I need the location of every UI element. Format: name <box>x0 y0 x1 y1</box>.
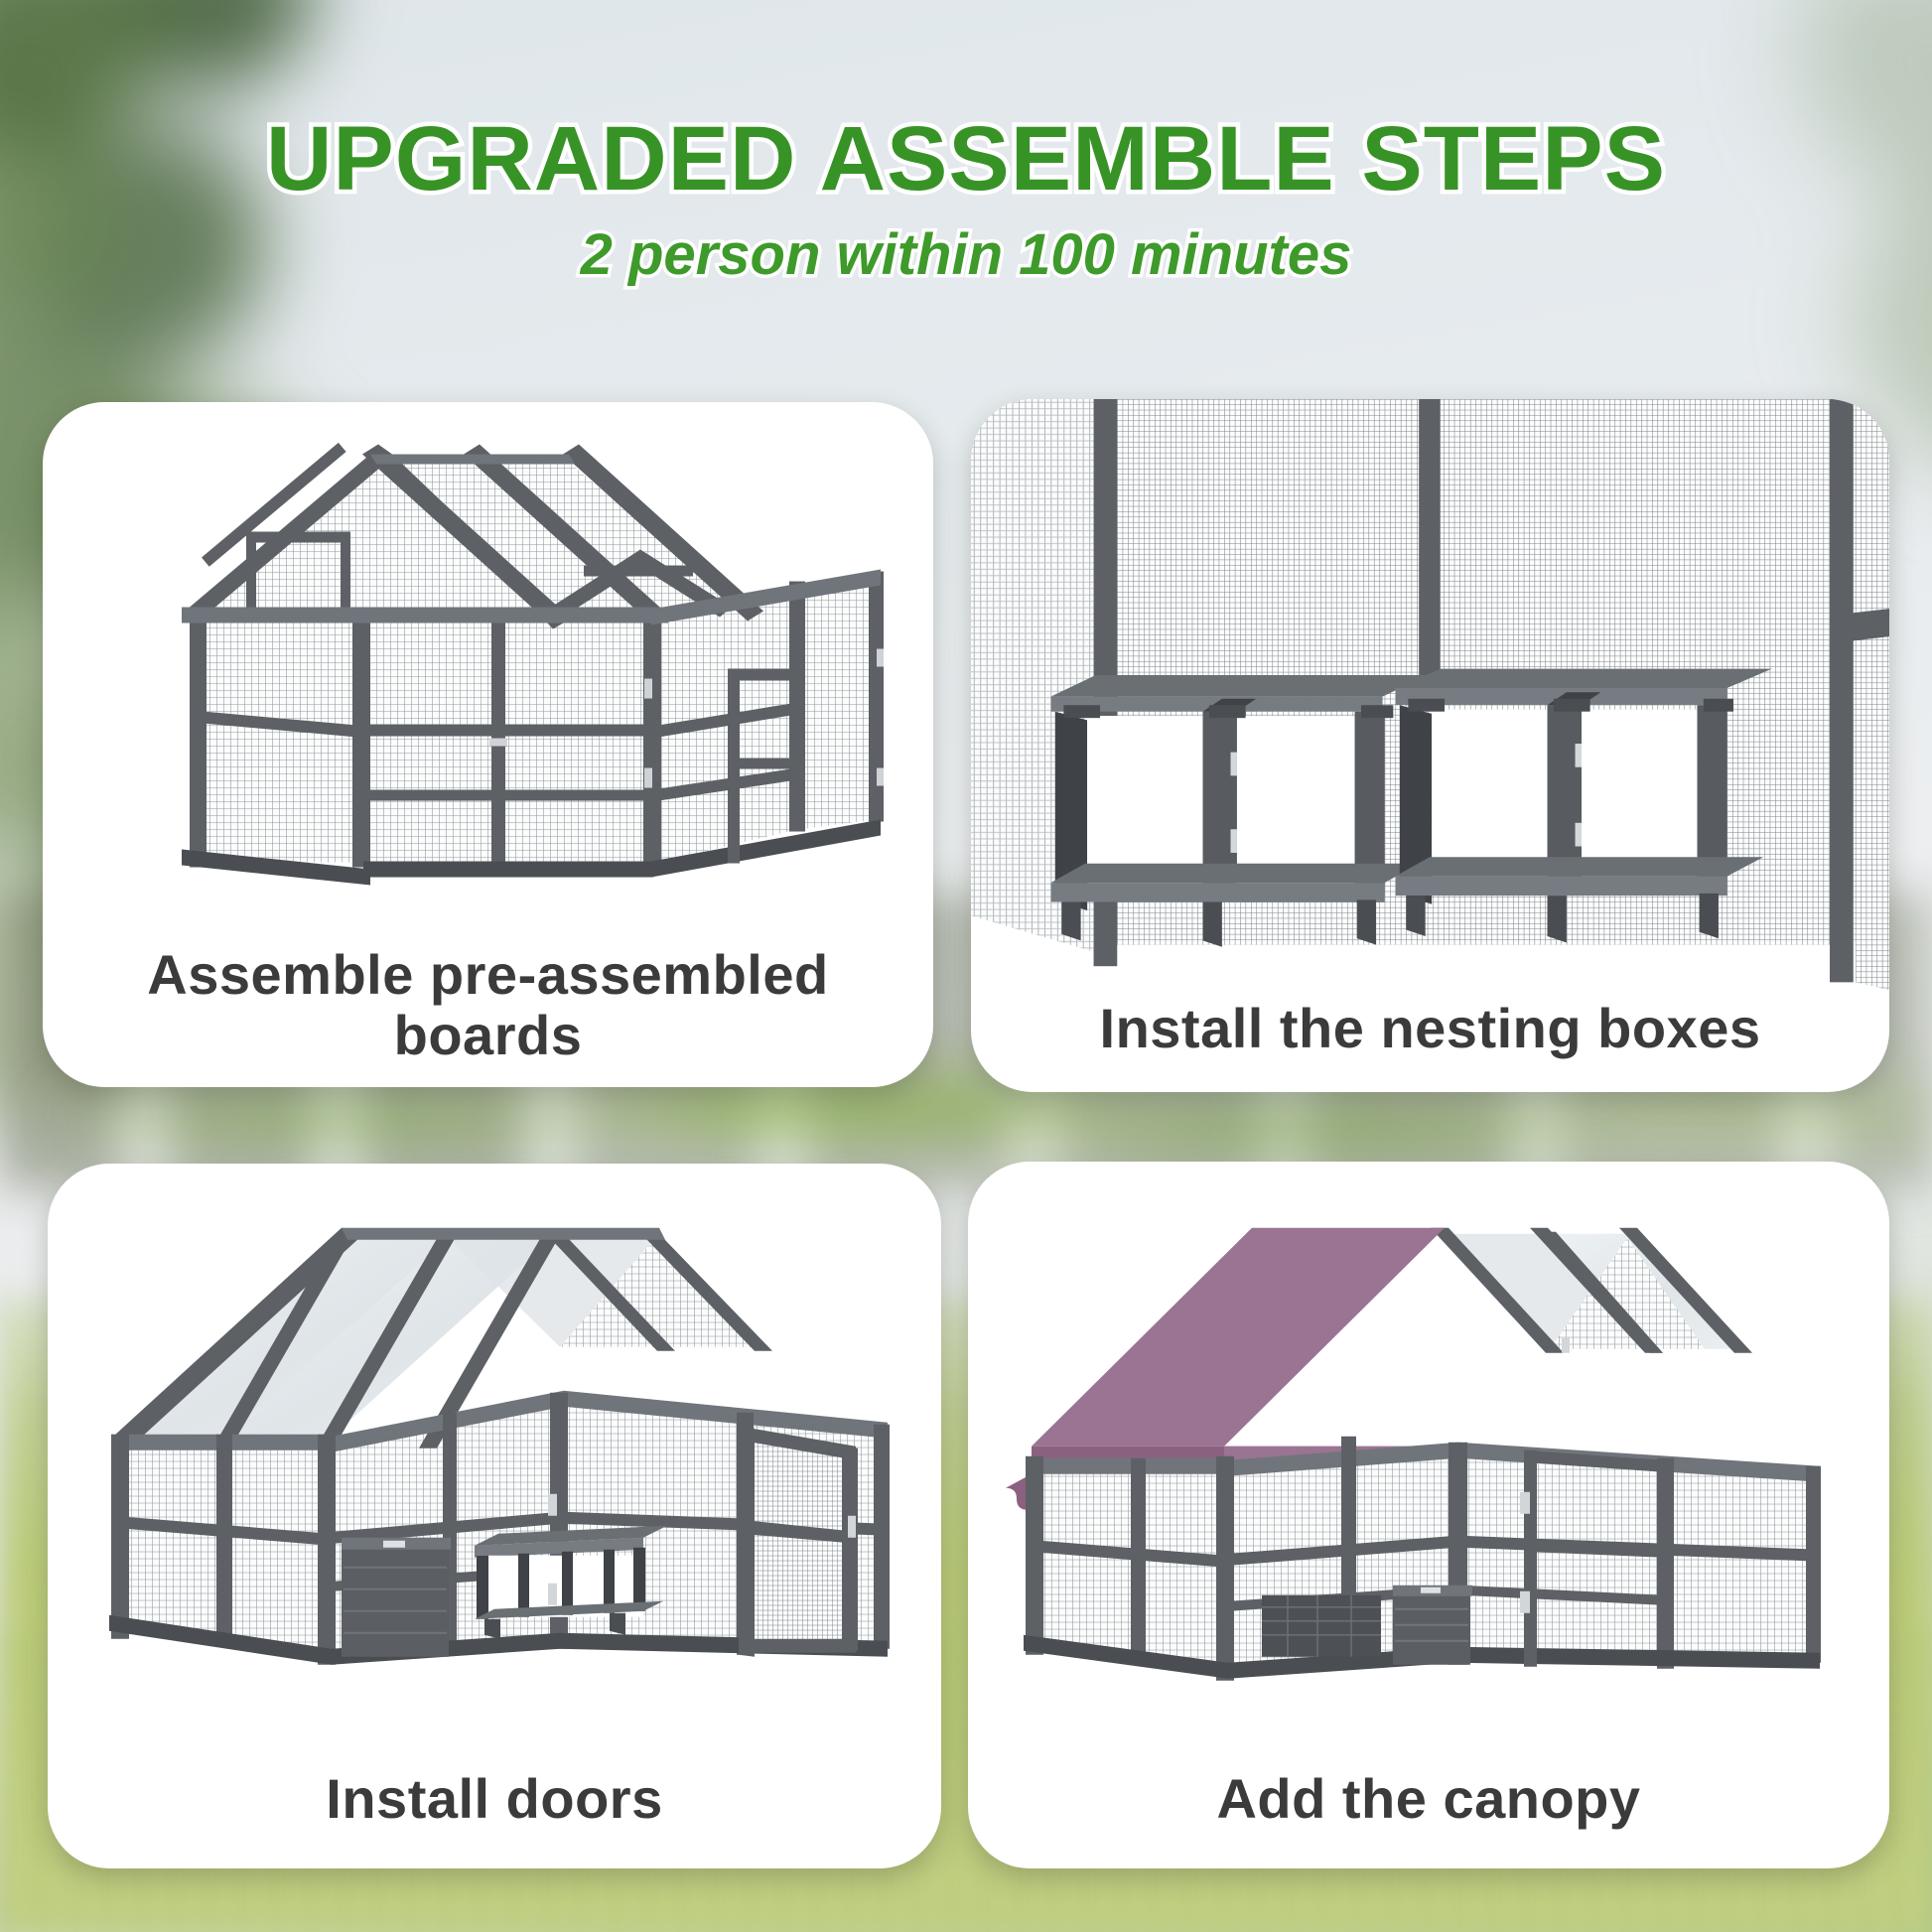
coop-canopy-illustration <box>968 1162 1889 1769</box>
step-4-caption: Add the canopy <box>968 1769 1889 1868</box>
step-card-3[interactable]: Install doors <box>48 1164 941 1868</box>
header: UPGRADED ASSEMBLE STEPS 2 person within … <box>0 111 1932 288</box>
step-2-caption: Install the nesting boxes <box>971 999 1889 1092</box>
step-1-caption-line1: Assemble pre-assembled <box>147 943 828 1006</box>
step-card-2[interactable]: Install the nesting boxes <box>971 399 1889 1092</box>
step-1-caption: Assemble pre-assembled boards <box>43 945 933 1087</box>
step-1-figure <box>43 402 933 945</box>
steps-grid: Assemble pre-assembled boards <box>0 0 1932 1932</box>
step-card-1[interactable]: Assemble pre-assembled boards <box>43 402 933 1087</box>
step-2-figure <box>971 399 1889 999</box>
step-card-4[interactable]: Add the canopy <box>968 1162 1889 1868</box>
step-3-figure <box>48 1164 941 1769</box>
step-4-figure <box>968 1162 1889 1769</box>
nesting-boxes-illustration <box>971 399 1889 999</box>
step-1-caption-line2: boards <box>394 1004 583 1066</box>
coop-frame-illustration <box>43 402 933 945</box>
step-3-caption: Install doors <box>48 1769 941 1868</box>
coop-doors-illustration <box>48 1164 941 1769</box>
page-title: UPGRADED ASSEMBLE STEPS <box>0 111 1932 207</box>
page-subtitle: 2 person within 100 minutes <box>0 221 1932 288</box>
